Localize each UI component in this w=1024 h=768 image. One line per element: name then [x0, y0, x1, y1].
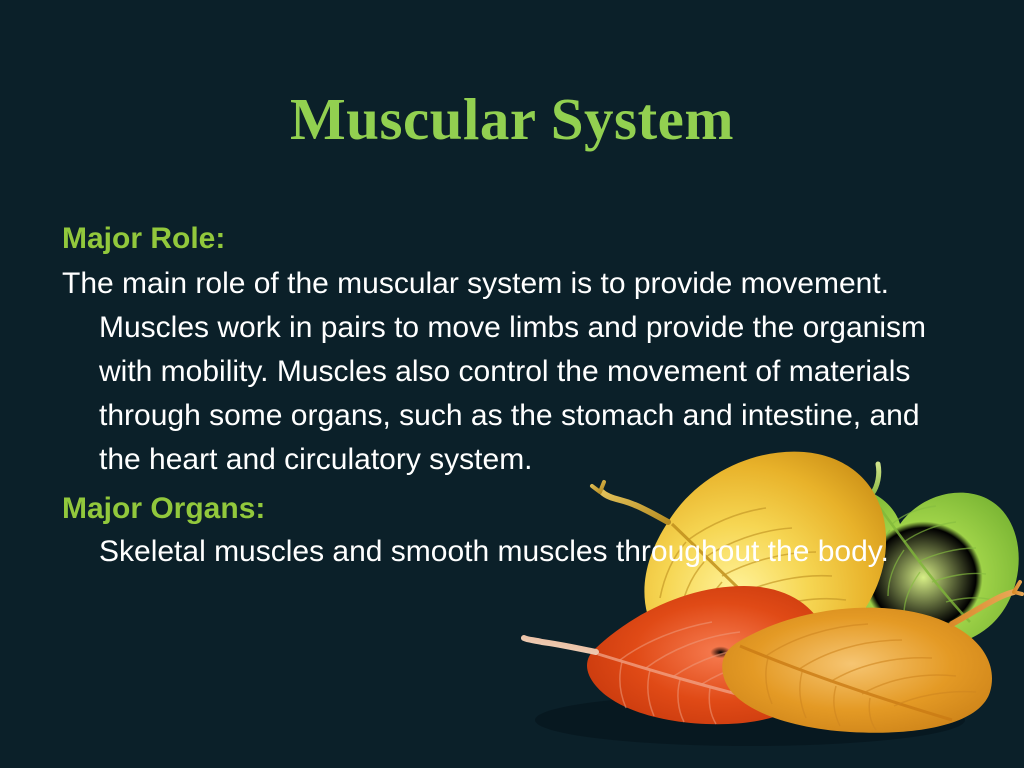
section-body-major-role: The main role of the muscular system is …: [62, 262, 967, 482]
red-leaf: [524, 586, 830, 724]
slide-body: Major Role: The main role of the muscula…: [62, 218, 967, 574]
section-heading-major-role: Major Role:: [62, 218, 967, 260]
section-heading-major-organs: Major Organs:: [62, 488, 967, 530]
section-body-major-organs: Skeletal muscles and smooth muscles thro…: [62, 530, 967, 574]
slide-canvas: Muscular System Major Role: The main rol…: [0, 0, 1024, 768]
page-title: Muscular System: [0, 86, 1024, 152]
orange-leaf: [722, 582, 1022, 733]
